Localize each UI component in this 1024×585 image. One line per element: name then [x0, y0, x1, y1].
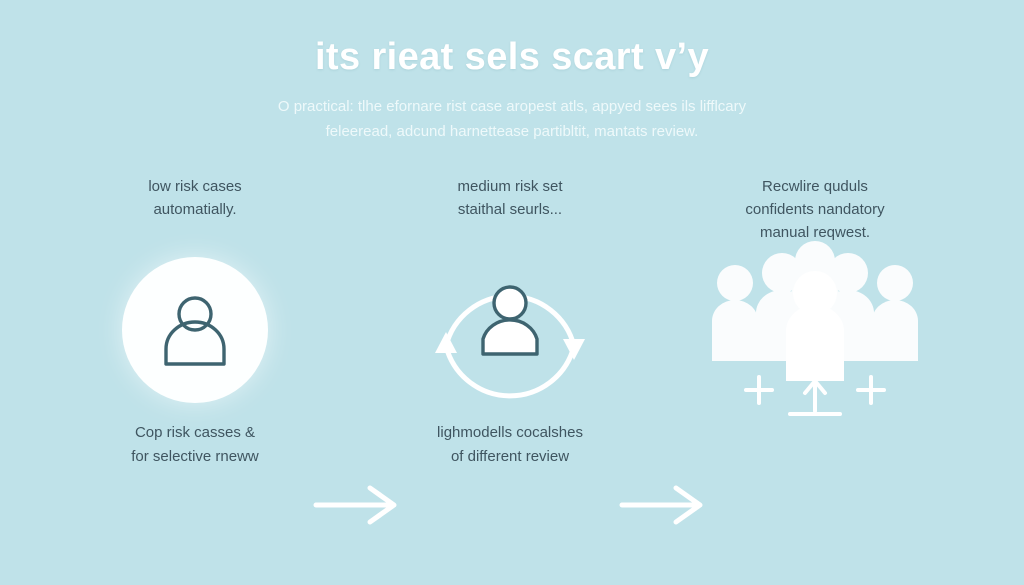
page-title: its rieat sels scart v’y [0, 34, 1024, 80]
white-circle-backdrop [122, 257, 268, 403]
step-2-bottom-line-1: lighmodells cocalshes [365, 421, 655, 445]
step-2-bottom-caption: lighmodells cocalshes of different revie… [365, 421, 655, 469]
person-in-circle-icon [152, 287, 238, 373]
person-refresh-cycle-icon [424, 250, 596, 410]
people-group-escalate-icon [710, 243, 920, 418]
subtitle-line-2: feleeread, adcund harnettease partibltit… [182, 119, 842, 144]
step-3-top-line-2: confidents nandatory [670, 198, 960, 221]
page-subtitle: O practical: tlhe efornare rist case aro… [182, 94, 842, 144]
flow-step-manual-team: Recwlire quduls confidents nandatory man… [670, 175, 960, 495]
flow-step-automated: low risk cases automatially. Cop risk ca… [50, 175, 340, 495]
header: its rieat sels scart v’y O practical: tl… [0, 34, 1024, 144]
step-2-bottom-line-2: of different review [365, 445, 655, 469]
process-flow: low risk cases automatially. Cop risk ca… [0, 175, 1024, 495]
step-1-bottom-caption: Cop risk casses & for selective rneww [50, 421, 340, 469]
step-3-top-line-1: Recwlire quduls [670, 175, 960, 198]
step-2-top-line-2: staithal seurls... [365, 198, 655, 221]
flow-step-review-loop: medium risk set staithal seurls... [365, 175, 655, 495]
step-1-top-caption: low risk cases automatially. [50, 175, 340, 245]
step-1-top-line-2: automatially. [50, 198, 340, 221]
diagram-canvas: its rieat sels scart v’y O practical: tl… [0, 0, 1024, 585]
step-3-icon-area [670, 245, 960, 415]
step-1-bottom-line-1: Cop risk casses & [50, 421, 340, 445]
step-1-top-line-1: low risk cases [50, 175, 340, 198]
step-1-icon-area [50, 245, 340, 415]
step-2-top-line-1: medium risk set [365, 175, 655, 198]
step-2-top-caption: medium risk set staithal seurls... [365, 175, 655, 245]
step-3-top-caption: Recwlire quduls confidents nandatory man… [670, 175, 960, 245]
step-2-icon-area [365, 245, 655, 415]
step-1-bottom-line-2: for selective rneww [50, 445, 340, 469]
subtitle-line-1: O practical: tlhe efornare rist case aro… [182, 94, 842, 119]
